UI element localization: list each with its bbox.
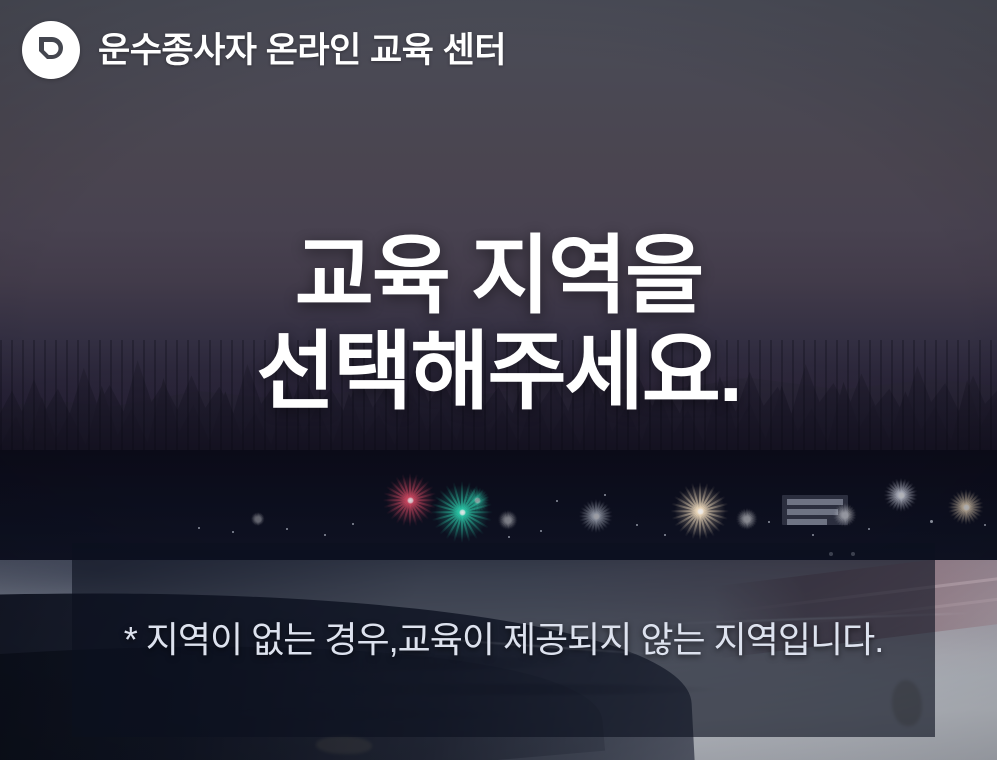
distant-light-dot: [664, 534, 666, 536]
distant-light-dot: [232, 531, 234, 533]
highway-sign-icon: [782, 495, 848, 525]
distant-light-dot: [768, 521, 770, 523]
distant-light-dot: [636, 524, 638, 526]
distant-light-dot: [540, 530, 542, 532]
notice-message: * 지역이 없는 경우,교육이 제공되지 않는 지역입니다.: [124, 614, 884, 666]
distant-light-dot: [984, 524, 986, 526]
hero-heading-line-2: 선택해주세요.: [0, 324, 997, 420]
distant-light-dot: [508, 536, 510, 538]
page-root: 운수종사자 온라인 교육 센터 교육 지역을 선택해주세요. * 지역이 없는 …: [0, 0, 997, 760]
site-header: 운수종사자 온라인 교육 센터: [0, 0, 997, 100]
distant-light-dot: [812, 534, 814, 536]
distant-light-dot: [286, 528, 288, 530]
hero-heading-line-1: 교육 지역을: [0, 228, 997, 324]
distant-light-dot: [930, 520, 933, 523]
distant-light-dot: [324, 534, 326, 536]
site-title: 운수종사자 온라인 교육 센터: [98, 33, 506, 68]
hero-heading: 교육 지역을 선택해주세요.: [0, 228, 997, 421]
distant-light-dot: [604, 494, 606, 496]
distant-light-dot: [198, 527, 200, 529]
notice-panel: * 지역이 없는 경우,교육이 제공되지 않는 지역입니다.: [72, 543, 935, 737]
brand-d-circle-icon[interactable]: [22, 21, 80, 79]
snow-blob-2: [316, 736, 372, 754]
distant-light-dot: [868, 528, 870, 530]
distant-light-dot: [556, 500, 558, 502]
distant-light-dot: [352, 523, 354, 525]
